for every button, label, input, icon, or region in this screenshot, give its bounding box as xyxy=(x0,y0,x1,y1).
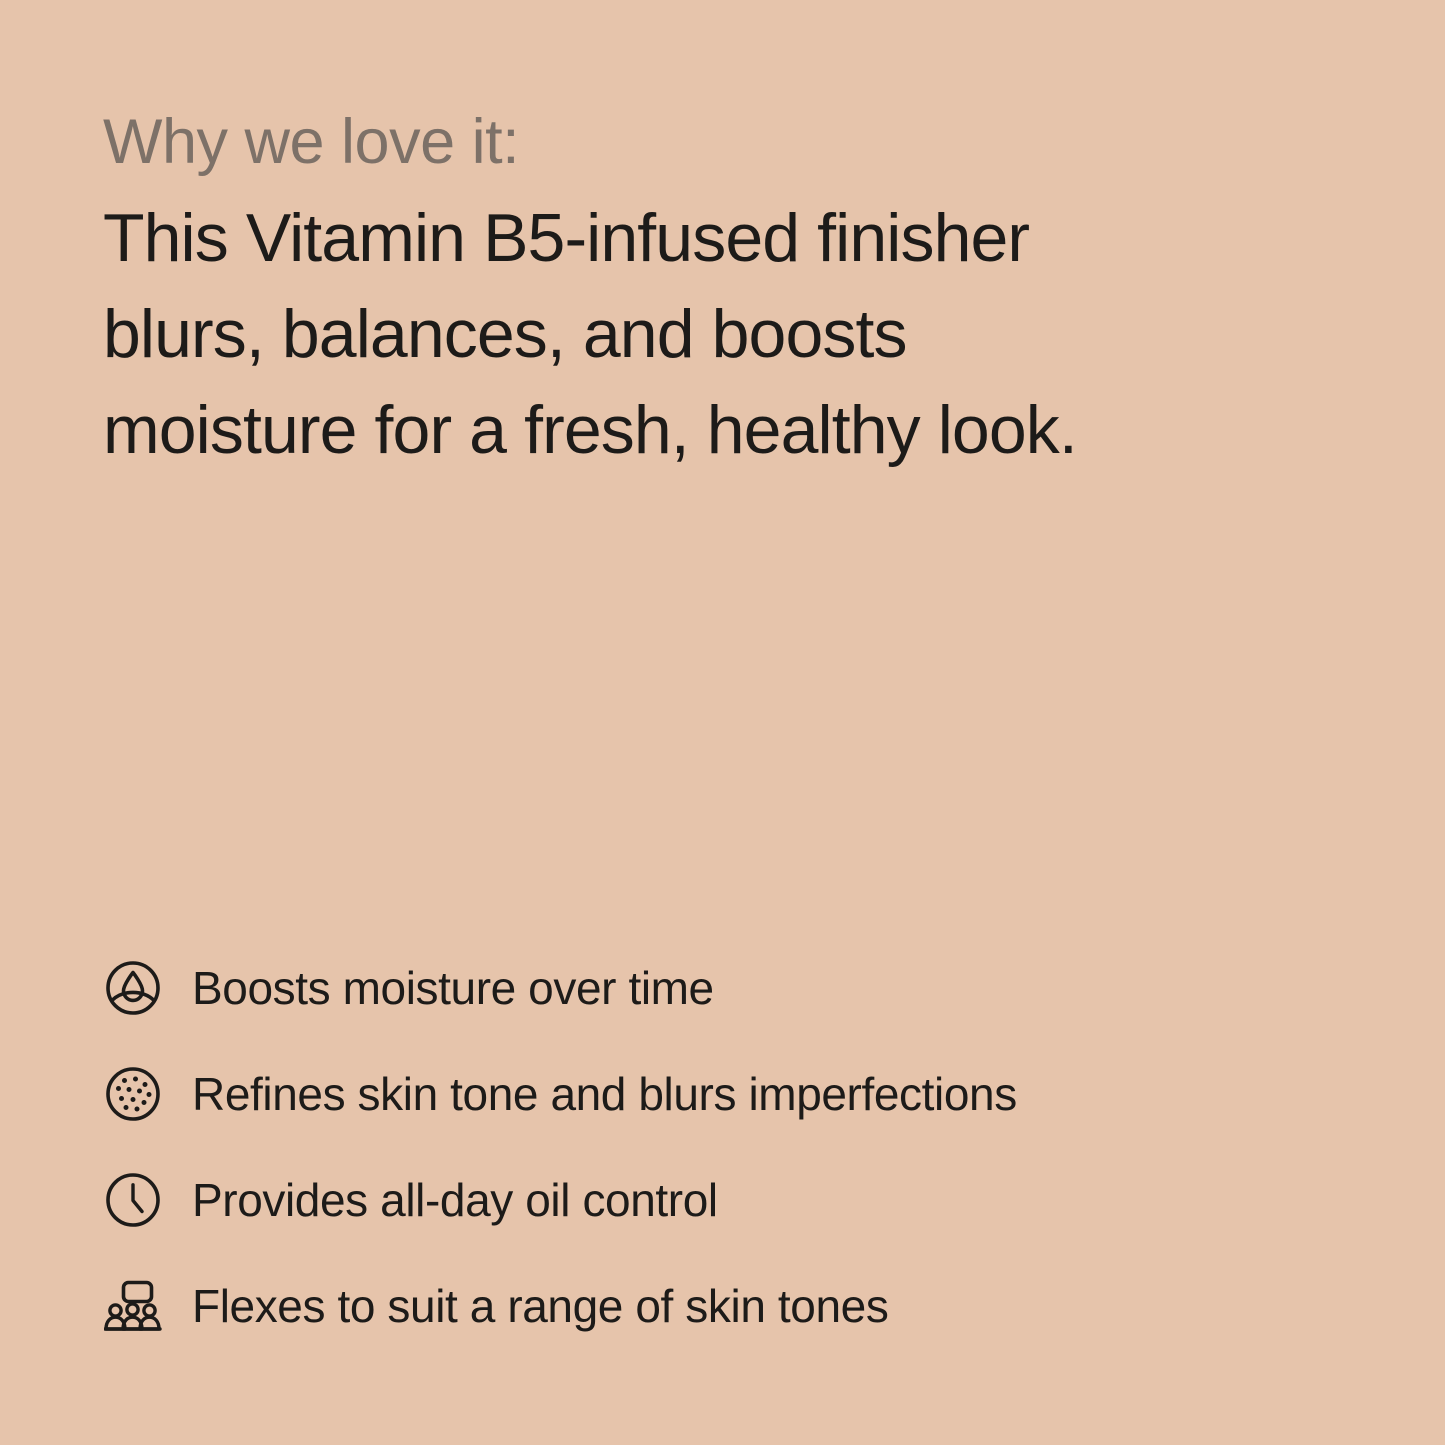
dotted-circle-icon xyxy=(103,1064,163,1124)
droplet-in-circle-icon xyxy=(103,958,163,1018)
headline-line-3: moisture for a fresh, healthy look. xyxy=(103,382,1303,478)
benefits-list: Boosts moisture over time xyxy=(103,952,1343,1342)
clock-icon xyxy=(103,1170,163,1230)
benefit-item-oil-control: Provides all-day oil control xyxy=(103,1164,1343,1236)
benefit-item-skin-range: Flexes to suit a range of skin tones xyxy=(103,1270,1343,1342)
product-benefits-card: Why we love it: This Vitamin B5-infused … xyxy=(0,0,1445,1445)
copy-block: Why we love it: This Vitamin B5-infused … xyxy=(103,96,1303,478)
eyebrow-heading: Why we love it: xyxy=(103,96,1303,188)
benefit-label: Flexes to suit a range of skin tones xyxy=(192,1278,888,1334)
headline: This Vitamin B5-infused finisher blurs, … xyxy=(103,190,1303,478)
headline-line-1: This Vitamin B5-infused finisher xyxy=(103,190,1303,286)
benefit-label: Provides all-day oil control xyxy=(192,1172,718,1228)
headline-line-2: blurs, balances, and boosts xyxy=(103,286,1303,382)
group-of-people-icon xyxy=(103,1276,163,1336)
benefit-item-skin-tone: Refines skin tone and blurs imperfection… xyxy=(103,1058,1343,1130)
benefit-item-moisture: Boosts moisture over time xyxy=(103,952,1343,1024)
benefit-label: Boosts moisture over time xyxy=(192,960,714,1016)
benefit-label: Refines skin tone and blurs imperfection… xyxy=(192,1066,1017,1122)
